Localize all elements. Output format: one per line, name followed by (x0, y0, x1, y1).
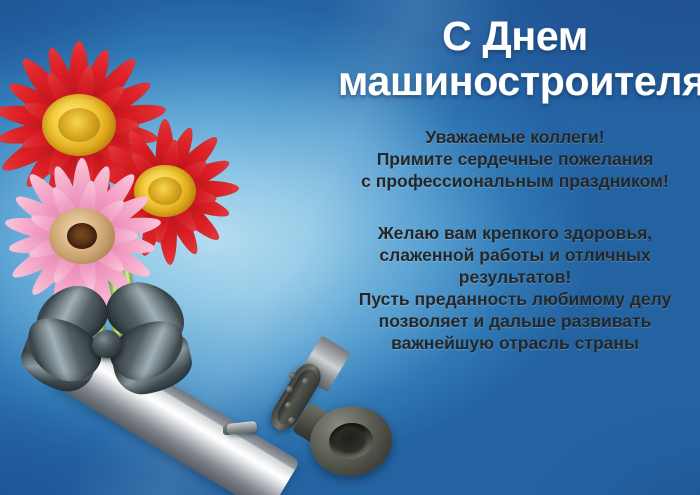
satin-bow (18, 278, 208, 406)
greeting-line-3: с профессиональным праздником! (336, 170, 694, 192)
card-title: С Днем машиностроителя! (330, 0, 700, 104)
cylinder-bolt (286, 386, 293, 393)
greeting-line-1: Уважаемые коллеги! (336, 126, 694, 148)
wishes-paragraph: Желаю вам крепкого здоровья, слаженной р… (330, 222, 700, 354)
cylinder-bolt (302, 378, 309, 385)
greeting-line-2: Примите сердечные пожелания (336, 148, 694, 170)
card-title-line-1: С Днем (442, 13, 588, 59)
wishes-line-5: позволяет и дальше развивать (336, 310, 694, 332)
card-title-line-2: машиностроителя! (338, 59, 692, 104)
greeting-card: С Днем машиностроителя! Уважаемые коллег… (0, 0, 700, 495)
wishes-line-6: важнейшую отрасль страны (336, 332, 694, 354)
wishes-line-4: Пусть преданность любимому делу (336, 288, 694, 310)
cylinder-bolt (288, 417, 295, 424)
bow-knot (92, 330, 122, 358)
wishes-line-1: Желаю вам крепкого здоровья, (336, 222, 694, 244)
cylinder-bolt (289, 372, 296, 379)
greeting-paragraph: Уважаемые коллеги! Примите сердечные пож… (330, 126, 700, 192)
gerbera-pink-center-inner (67, 223, 97, 249)
greeting-text-column: С Днем машиностроителя! Уважаемые коллег… (330, 0, 700, 495)
wishes-line-3: результатов! (336, 266, 694, 288)
wishes-line-2: слаженной работы и отличных (336, 244, 694, 266)
cylinder-bolt (285, 402, 292, 409)
